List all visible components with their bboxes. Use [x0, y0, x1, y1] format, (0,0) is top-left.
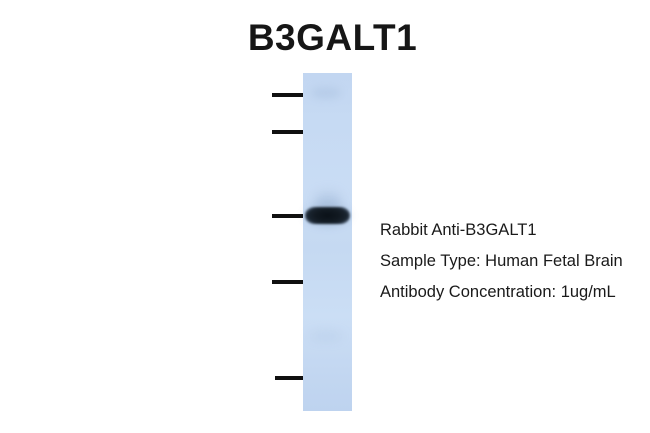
mw-marker-tick: [272, 93, 303, 97]
mw-marker-tick: [272, 280, 303, 284]
gel-lane: [303, 73, 352, 411]
lane-artifact: [309, 331, 343, 341]
western-blot-figure: B3GALT1 9065403122 Rabbit Anti-B3GALT1Sa…: [0, 0, 650, 433]
mw-marker-tick: [272, 214, 303, 218]
annotation-block: Rabbit Anti-B3GALT1Sample Type: Human Fe…: [380, 215, 650, 308]
mw-marker-tick: [275, 376, 303, 380]
annotation-line-3: Antibody Concentration: 1ug/mL: [380, 277, 650, 308]
lane-artifact: [311, 87, 341, 99]
page-title: B3GALT1: [0, 19, 650, 56]
annotation-line-1: Rabbit Anti-B3GALT1: [380, 215, 650, 246]
protein-band: [305, 207, 350, 224]
annotation-line-2: Sample Type: Human Fetal Brain: [380, 246, 650, 277]
mw-marker-tick: [272, 130, 303, 134]
